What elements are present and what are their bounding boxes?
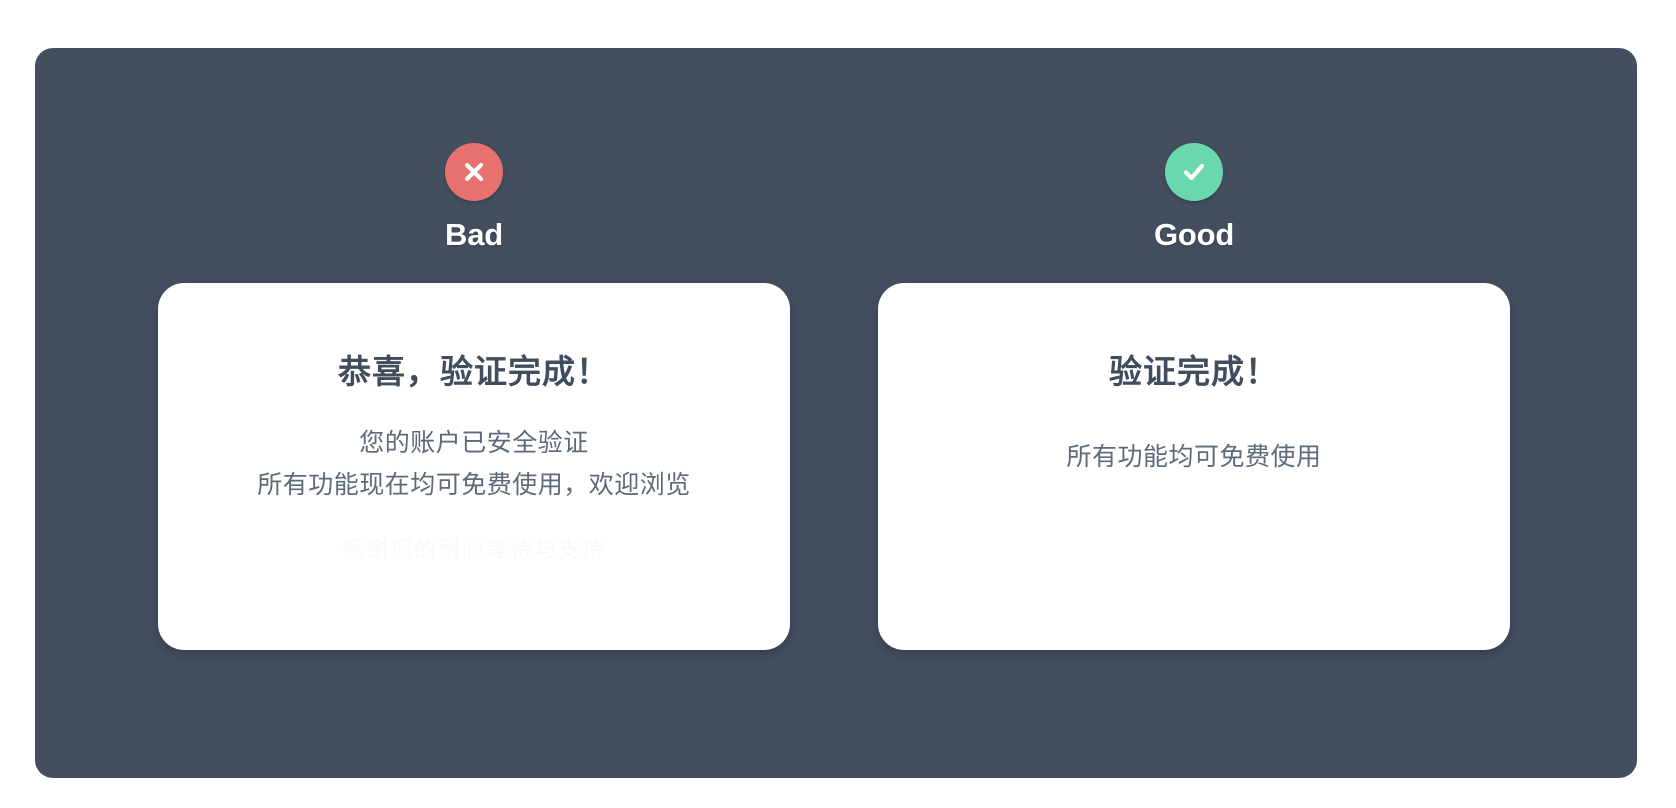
check-circle-icon: [1165, 143, 1223, 201]
comparison-column-good: Good 验证完成！ 所有功能均可免费使用: [878, 48, 1510, 778]
card-body-line: 所有功能均可免费使用: [1066, 436, 1321, 478]
column-caption-good: Good: [1154, 219, 1234, 250]
card-body-line: 所有功能现在均可免费使用，欢迎浏览: [257, 464, 691, 506]
card-title-bad: 恭喜，验证完成！: [338, 345, 610, 393]
card-body-bad: 您的账户已安全验证 所有功能现在均可免费使用，欢迎浏览 感谢您的耐心等待与支持: [257, 422, 691, 569]
card-body-line: 您的账户已安全验证: [257, 422, 691, 464]
x-circle-icon: [445, 143, 503, 201]
screenshot-root: Bad 恭喜，验证完成！ 您的账户已安全验证 所有功能现在均可免费使用，欢迎浏览…: [0, 0, 1676, 808]
comparison-column-bad: Bad 恭喜，验证完成！ 您的账户已安全验证 所有功能现在均可免费使用，欢迎浏览…: [158, 48, 790, 778]
card-body-good: 所有功能均可免费使用: [1066, 436, 1321, 478]
message-card-bad: 恭喜，验证完成！ 您的账户已安全验证 所有功能现在均可免费使用，欢迎浏览 感谢您…: [158, 283, 790, 650]
column-caption-bad: Bad: [445, 219, 503, 250]
comparison-panel: Bad 恭喜，验证完成！ 您的账户已安全验证 所有功能现在均可免费使用，欢迎浏览…: [35, 48, 1637, 778]
card-title-good: 验证完成！: [1109, 345, 1279, 393]
message-card-good: 验证完成！ 所有功能均可免费使用: [878, 283, 1510, 650]
card-faded-line: 感谢您的耐心等待与支持: [257, 532, 691, 569]
